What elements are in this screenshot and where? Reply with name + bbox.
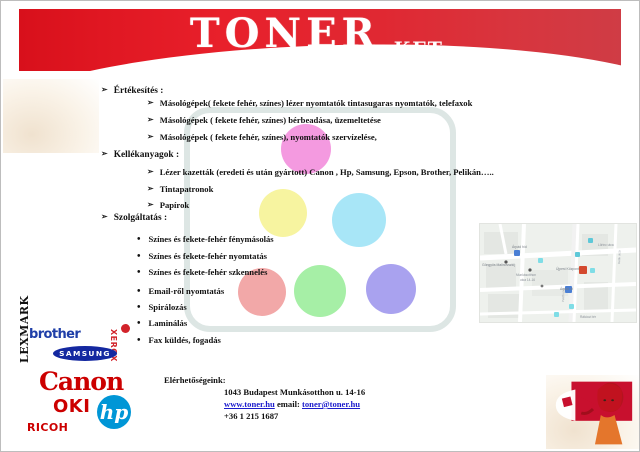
purple-circle	[366, 264, 416, 314]
section-heading-3: Szolgáltatás :	[101, 212, 167, 223]
xerox-ball-icon	[121, 324, 130, 333]
section-3-item-4: Email-ről nyomtatás	[137, 286, 224, 297]
svg-text:Deák utca: Deák utca	[617, 250, 621, 264]
samsung-logo: SAMSUNG	[53, 346, 117, 361]
hp-logo: hp	[97, 395, 131, 429]
flyer-page: TONER KFT. Értékesítés :Másológépek( fek…	[0, 0, 640, 452]
section-heading-2: Kellékanyagok :	[101, 149, 179, 160]
svg-text:Újpest Központ: Újpest Központ	[556, 266, 579, 271]
illustration-background-tl	[3, 79, 99, 153]
section-3-item-3: Színes és fekete-fehér szkennelés	[137, 267, 267, 278]
yellow-circle	[259, 189, 307, 237]
section-3-item-5: Spirálozás	[137, 302, 187, 313]
contact-heading: Elérhetőségeink:	[164, 375, 365, 385]
section-1-item-2: Másológépek ( fekete fehér, színes) bérb…	[147, 115, 381, 125]
svg-text:Lőrinc utca: Lőrinc utca	[598, 243, 614, 247]
header-banner: TONER KFT.	[19, 9, 621, 71]
lexmark-logo: LEXMARK	[18, 295, 31, 363]
svg-text:Rákóczi tér: Rákóczi tér	[580, 315, 597, 319]
website-link[interactable]: www.toner.hu	[224, 399, 275, 409]
location-map-thumbnail[interactable]: Árpád híd Göngyös Malinovszkij Munkásott…	[479, 223, 637, 323]
svg-text:Göngyös Malinovszkij: Göngyös Malinovszkij	[482, 263, 515, 267]
brother-logo: brother	[29, 327, 80, 342]
map-svg: Árpád híd Göngyös Malinovszkij Munkásott…	[480, 224, 636, 322]
ricoh-logo: RICOH	[27, 421, 68, 434]
woman-megaphone-svg-br	[546, 375, 640, 449]
woman-with-megaphone-bottom-right	[546, 375, 640, 449]
woman-with-megaphone-top-left	[3, 79, 99, 153]
canon-logo: Canon	[39, 367, 123, 396]
email-label: email:	[277, 399, 300, 409]
section-3-item-6: Laminálás	[137, 318, 187, 329]
section-2-item-2: Tintapatronok	[147, 184, 213, 194]
section-3-item-7: Fax küldés, fogadás	[137, 335, 221, 346]
contact-address: 1043 Budapest Munkásotthon u. 14-16	[224, 387, 365, 397]
contact-block: Elérhetőségeink: 1043 Budapest Munkásott…	[164, 375, 365, 421]
section-2-item-3: Papírok	[147, 200, 189, 210]
email-link[interactable]: toner@toner.hu	[302, 399, 360, 409]
contact-phone: +36 1 215 1687	[224, 411, 365, 421]
svg-text:Munkásotthon: Munkásotthon	[516, 273, 536, 277]
svg-text:Petőfi utca: Petőfi utca	[561, 287, 566, 302]
oki-logo: OKI	[53, 396, 90, 417]
section-2-item-1: Lézer kazetták (eredeti és után gyártott…	[147, 167, 494, 177]
contact-links-line: www.toner.hu email: toner@toner.hu	[224, 399, 365, 409]
cyan-circle	[332, 193, 386, 247]
section-heading-1: Értékesítés :	[101, 85, 163, 96]
green-circle	[294, 265, 346, 317]
svg-text:utca 14-16: utca 14-16	[520, 278, 535, 282]
brand-logos-group: brother XEROX SAMSUNG LEXMARK Canon OKI …	[5, 319, 141, 449]
section-3-item-1: Színes és fekete-fehér fénymásolás	[137, 234, 274, 245]
section-1-item-3: Másológépek ( fekete fehér, színes), nyo…	[147, 132, 377, 142]
section-1-item-1: Másológépek( fekete fehér, színes) lézer…	[147, 98, 472, 108]
svg-text:Árpád híd: Árpád híd	[512, 245, 527, 249]
section-3-item-2: Színes és fekete-fehér nyomtatás	[137, 251, 267, 262]
